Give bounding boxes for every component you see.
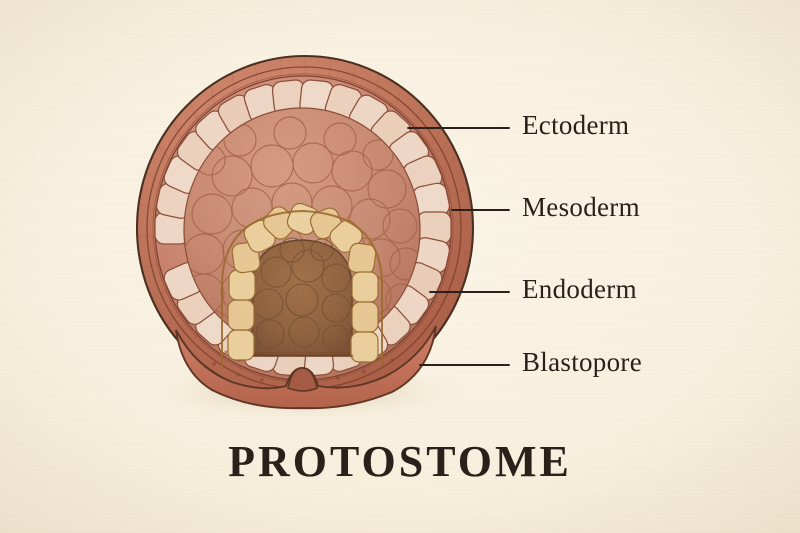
- label-endoderm: Endoderm: [522, 276, 637, 303]
- figure-title: PROTOSTOME: [0, 440, 800, 484]
- figure-canvas: Ectoderm Mesoderm Endoderm Blastopore PR…: [0, 0, 800, 533]
- label-mesoderm: Mesoderm: [522, 194, 640, 221]
- label-ectoderm: Ectoderm: [522, 112, 629, 139]
- label-blastopore: Blastopore: [522, 349, 642, 376]
